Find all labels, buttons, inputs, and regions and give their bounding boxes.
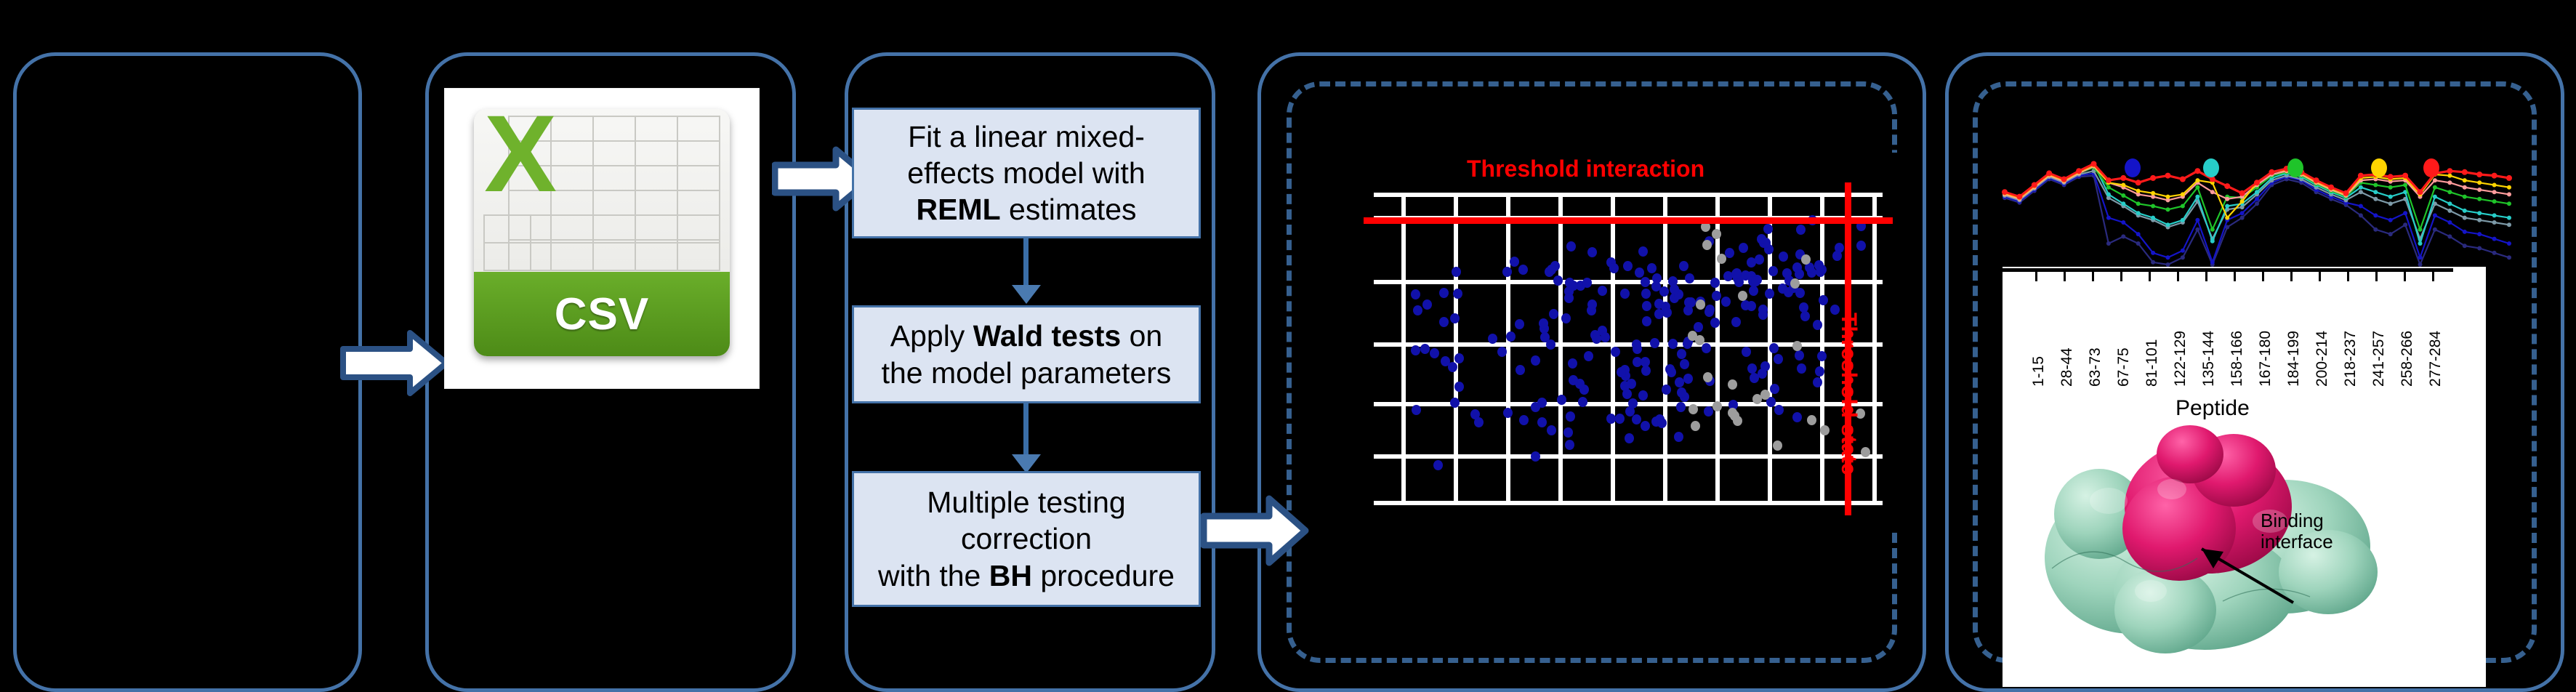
scatter-point — [1412, 405, 1421, 415]
csv-format-band: CSV — [474, 272, 730, 356]
gridline — [1374, 342, 1883, 347]
result-figure-panel: 1-1528-4463-7367-7581-101122-129135-1441… — [2003, 267, 2486, 687]
scatter-point — [1638, 246, 1648, 257]
scatter-point — [1539, 318, 1548, 329]
gridline — [1820, 193, 1824, 505]
scatter-point — [1730, 411, 1739, 421]
scatter-point — [1797, 363, 1806, 374]
scatter-point — [1413, 305, 1422, 315]
protein-structure-image — [2023, 419, 2408, 659]
peptide-tick-label: 135-144 — [2200, 331, 2218, 387]
scatter-point — [1519, 415, 1529, 425]
scatter-point — [1592, 334, 1601, 344]
pipeline-diagram: X CSV Fit a linear mixed- effects model … — [0, 0, 2576, 687]
scatter-point — [1510, 257, 1519, 267]
scatter-point — [1760, 390, 1770, 400]
gridline — [1715, 193, 1720, 505]
gridline — [1506, 193, 1510, 505]
scatter-point — [1622, 389, 1632, 399]
scatter-point — [1659, 286, 1669, 297]
peptide-tick-label: 258-266 — [2399, 331, 2416, 387]
scatter-point — [1641, 277, 1650, 287]
scatter-point — [1537, 398, 1547, 408]
scatter-point — [1795, 269, 1804, 279]
scatter-point — [1632, 414, 1641, 425]
scatter-point — [1675, 377, 1684, 387]
scatter-point — [1641, 366, 1651, 376]
threshold-state-label: Threshold state — [1836, 313, 1861, 475]
scatter-point — [1739, 243, 1748, 253]
scatter-point — [1677, 349, 1686, 359]
scatter-point — [1561, 313, 1571, 323]
scatter-point — [1750, 373, 1759, 383]
peptide-tick-label: 200-214 — [2314, 331, 2331, 387]
scatter-point — [1450, 313, 1460, 323]
gridline — [1374, 280, 1883, 284]
step-bh-after3: procedure — [1032, 559, 1175, 592]
scatter-point — [1546, 339, 1555, 350]
scatter-point — [1792, 412, 1802, 422]
peptide-tick-label: 167-180 — [2257, 331, 2274, 387]
step-reml-box[interactable]: Fit a linear mixed- effects model with R… — [852, 108, 1201, 238]
axis-tick — [2404, 271, 2406, 281]
csv-file-icon: X CSV — [474, 109, 730, 356]
scatter-point — [1623, 261, 1633, 271]
peptide-tick-label: 28-44 — [2058, 347, 2076, 387]
scatter-point — [1813, 320, 1822, 330]
scatter-point — [1749, 286, 1758, 296]
axis-tick — [2177, 271, 2179, 281]
step-bh-box[interactable]: Multiple testing correction with the BH … — [852, 471, 1201, 607]
scatter-point — [1454, 382, 1464, 392]
scatter-point — [1721, 297, 1731, 307]
scatter-point — [1800, 311, 1810, 321]
scatter-point — [1641, 421, 1650, 431]
axis-tick — [2262, 271, 2264, 281]
scatter-point — [1547, 425, 1556, 435]
scatter-point — [1601, 332, 1610, 342]
scatter-point — [1448, 362, 1457, 372]
scatter-point — [1657, 418, 1667, 428]
scatter-point — [1497, 347, 1507, 357]
scatter-point — [1566, 411, 1575, 422]
scatter-point — [1411, 345, 1420, 355]
scatter-point — [1537, 417, 1547, 427]
peptide-tick-label: 218-237 — [2342, 331, 2359, 387]
threshold-interaction-line — [1364, 217, 1893, 224]
binding-interface-line1: Binding — [2261, 510, 2333, 531]
connector-arrowhead-wald — [1012, 285, 1041, 304]
scatter-point — [1668, 339, 1678, 349]
scatter-point — [1651, 281, 1661, 291]
scatter-point — [1611, 347, 1620, 357]
panel-input-stage — [13, 52, 362, 692]
scatter-point — [1518, 265, 1528, 275]
scatter-point — [1820, 425, 1830, 435]
scatter-point — [1582, 278, 1592, 288]
axis-top-line — [2003, 268, 2453, 272]
scatter-point — [1531, 451, 1540, 462]
scatter-point — [1747, 363, 1757, 374]
connector-reml-to-wald — [1023, 238, 1029, 291]
axis-tick — [2375, 271, 2378, 281]
scatter-point — [1578, 397, 1587, 407]
scatter-point — [1566, 241, 1576, 252]
scatter-point — [1760, 361, 1770, 371]
legend-dot — [2287, 158, 2303, 177]
scatter-point — [1433, 460, 1443, 470]
scatter-point — [1647, 263, 1657, 273]
scatter-point — [1674, 432, 1683, 442]
scatter-point — [1792, 341, 1802, 351]
gridline — [1374, 501, 1883, 505]
scatter-point — [1568, 358, 1577, 369]
scatter-point — [1670, 284, 1679, 294]
gridline — [1454, 193, 1458, 505]
scatter-point — [1642, 301, 1651, 311]
scatter-point — [1606, 414, 1616, 424]
scatter-point — [1819, 295, 1828, 305]
scatter-point — [1453, 289, 1462, 299]
axis-tick — [2064, 271, 2066, 281]
step-wald-bold: Wald tests — [973, 319, 1122, 353]
scatter-point — [1689, 404, 1698, 414]
scatter-point — [1506, 331, 1516, 342]
axis-tick — [2092, 271, 2094, 281]
scatter-point — [1676, 402, 1686, 412]
scatter-point — [1702, 343, 1711, 353]
scatter-point — [1563, 427, 1573, 438]
axis-tick — [2290, 271, 2293, 281]
peptide-tick-label: 241-257 — [2370, 331, 2388, 387]
scatter-point — [1704, 307, 1714, 317]
step-reml-bold: REML — [917, 193, 1001, 226]
csv-icon-card: X CSV — [445, 89, 759, 388]
scatter-point — [1717, 254, 1726, 264]
scatter-point — [1813, 377, 1822, 387]
threshold-interaction-label: Threshold interaction — [1467, 156, 1704, 182]
scatter-point — [1765, 289, 1774, 299]
scatter-point — [1770, 384, 1779, 394]
step-bh-line1: Multiple testing — [927, 486, 1125, 519]
scatter-point — [1790, 278, 1800, 289]
binding-interface-line2: interface — [2261, 531, 2333, 552]
scatter-point — [1549, 309, 1558, 319]
step-reml-after: estimates — [1001, 193, 1137, 226]
scatter-point — [1565, 440, 1574, 450]
scatter-point — [1620, 289, 1630, 299]
scatter-point — [1452, 267, 1461, 277]
step-reml-line2: effects model with — [907, 156, 1145, 190]
scatter-point — [1751, 276, 1760, 286]
connector-wald-to-bh — [1023, 403, 1029, 459]
axis-tick — [2205, 271, 2207, 281]
scatter-point — [1625, 433, 1634, 443]
scatter-point — [1685, 273, 1694, 283]
scatter-point — [1615, 414, 1625, 424]
scatter-point — [1667, 367, 1676, 377]
gridline — [1558, 193, 1563, 505]
step-bh-pre3: with the — [878, 559, 989, 592]
binding-interface-annotation: Binding interface — [2261, 510, 2333, 552]
scatter-point — [1450, 398, 1460, 408]
axis-tick — [2432, 271, 2434, 281]
scatter-point — [1712, 229, 1721, 239]
gridline — [1374, 454, 1883, 459]
scatter-point — [1587, 247, 1597, 257]
scatter-point — [1598, 286, 1607, 296]
scatter-point — [1861, 447, 1870, 457]
legend-dot — [2125, 158, 2141, 177]
scatter-point — [1430, 348, 1439, 358]
peptide-tick-label: 63-73 — [2087, 347, 2104, 387]
scatter-point — [1411, 289, 1420, 299]
scatter-point — [1832, 251, 1842, 261]
axis-tick — [2149, 271, 2151, 281]
scatter-point — [1609, 263, 1619, 273]
scatter-point — [1752, 394, 1762, 404]
step-wald-pre: Apply — [890, 319, 973, 353]
scatter-point — [1856, 241, 1866, 251]
axis-tick — [2234, 271, 2236, 281]
scatter-point — [1564, 293, 1574, 303]
scatter-point — [1725, 248, 1734, 258]
scatter-point — [1680, 359, 1689, 369]
axis-tick — [2120, 271, 2122, 281]
arrow-analysis-to-scatter — [1201, 494, 1310, 567]
peptide-tick-label: 1-15 — [2030, 356, 2048, 387]
scatter-point — [1569, 281, 1578, 291]
scatter-plot: Threshold interaction — [1359, 153, 1897, 531]
scatter-point — [1587, 299, 1597, 310]
scatter-point — [1502, 267, 1512, 277]
peptide-tick-label: 81-101 — [2144, 339, 2161, 387]
scatter-point — [1422, 299, 1432, 310]
scatter-point — [1757, 234, 1766, 244]
scatter-point — [1420, 344, 1430, 354]
scatter-point — [1774, 354, 1783, 364]
scatter-point — [1774, 405, 1784, 415]
scatter-point — [1515, 319, 1524, 329]
scatter-point — [1557, 395, 1566, 405]
step-wald-box[interactable]: Apply Wald tests on the model parameters — [852, 305, 1201, 403]
scatter-point — [1795, 350, 1804, 361]
scatter-point — [1679, 261, 1689, 271]
gridline — [1401, 193, 1406, 505]
axis-tick — [2035, 271, 2037, 281]
scatter-point — [1617, 367, 1626, 377]
scatter-point — [1712, 291, 1721, 301]
scatter-point — [1638, 390, 1648, 401]
scatter-point — [1686, 297, 1696, 307]
scatter-point — [1627, 379, 1636, 389]
scatter-point — [1474, 417, 1484, 427]
scatter-point — [1712, 401, 1722, 411]
scatter-point — [1641, 289, 1651, 299]
scatter-point — [1741, 300, 1750, 310]
scatter-point — [1531, 355, 1540, 366]
scatter-point — [1807, 415, 1816, 425]
scatter-point — [1769, 343, 1779, 353]
scatter-point — [1731, 317, 1741, 327]
scatter-point — [1632, 339, 1641, 350]
scatter-point — [1738, 291, 1747, 301]
peptide-tick-label: 158-166 — [2229, 331, 2246, 387]
step-bh-bold: BH — [989, 559, 1032, 592]
scatter-point — [1662, 385, 1671, 395]
scatter-point — [1691, 421, 1700, 431]
scatter-point — [1728, 379, 1737, 390]
scatter-point — [1696, 299, 1705, 310]
scatter-point — [1439, 317, 1449, 327]
legend-dot — [2371, 158, 2387, 177]
scatter-point — [1768, 266, 1778, 276]
legend-dot — [2423, 158, 2439, 177]
scatter-point — [1488, 334, 1497, 344]
scatter-point — [1650, 338, 1659, 348]
step-reml-line1: Fit a linear mixed- — [908, 120, 1145, 153]
gridline — [1872, 193, 1877, 505]
scatter-point — [1454, 353, 1464, 363]
scatter-point — [1677, 387, 1686, 398]
scatter-point — [1742, 347, 1751, 357]
scatter-point — [1799, 302, 1808, 313]
scatter-point — [1516, 365, 1525, 375]
peptide-tick-label: 122-129 — [2172, 331, 2189, 387]
gridline — [1663, 193, 1667, 505]
chart-xlabel: Peptide — [2175, 396, 2250, 421]
scatter-point — [1817, 351, 1827, 361]
scatter-point — [1503, 408, 1513, 418]
scatter-point — [1642, 316, 1651, 326]
scatter-point — [1773, 440, 1782, 451]
peptide-tick-label: 67-75 — [2115, 347, 2133, 387]
csv-format-label: CSV — [555, 289, 649, 340]
step-wald-line2: the model parameters — [882, 356, 1172, 390]
scatter-point — [1815, 366, 1824, 377]
excel-x-icon: X — [484, 109, 557, 208]
scatter-point — [1547, 265, 1556, 275]
axis-tick — [2347, 271, 2349, 281]
chart-legend — [1992, 158, 2515, 183]
axis-tick — [2319, 271, 2321, 281]
step-bh-line2: correction — [961, 522, 1092, 555]
scatter-point — [1779, 252, 1788, 262]
scatter-point — [1782, 268, 1792, 278]
scatter-point — [1796, 225, 1806, 235]
scatter-point — [1702, 240, 1712, 250]
scatter-point — [1755, 254, 1764, 265]
peptide-tick-label: 184-199 — [2285, 331, 2303, 387]
peptide-tick-label: 277-284 — [2427, 331, 2444, 387]
scatter-point — [1694, 322, 1703, 332]
legend-dot — [2203, 158, 2219, 177]
gridline — [1374, 193, 1883, 197]
scatter-point — [1758, 310, 1768, 320]
step-wald-after: on — [1121, 319, 1162, 353]
scatter-point — [1439, 288, 1449, 298]
scatter-point — [1584, 351, 1593, 361]
scatter-point — [1683, 374, 1693, 384]
scatter-point — [1635, 267, 1644, 278]
arrow-input-to-csv — [340, 329, 449, 398]
scatter-point — [1628, 398, 1638, 409]
scatter-point — [1763, 224, 1773, 234]
